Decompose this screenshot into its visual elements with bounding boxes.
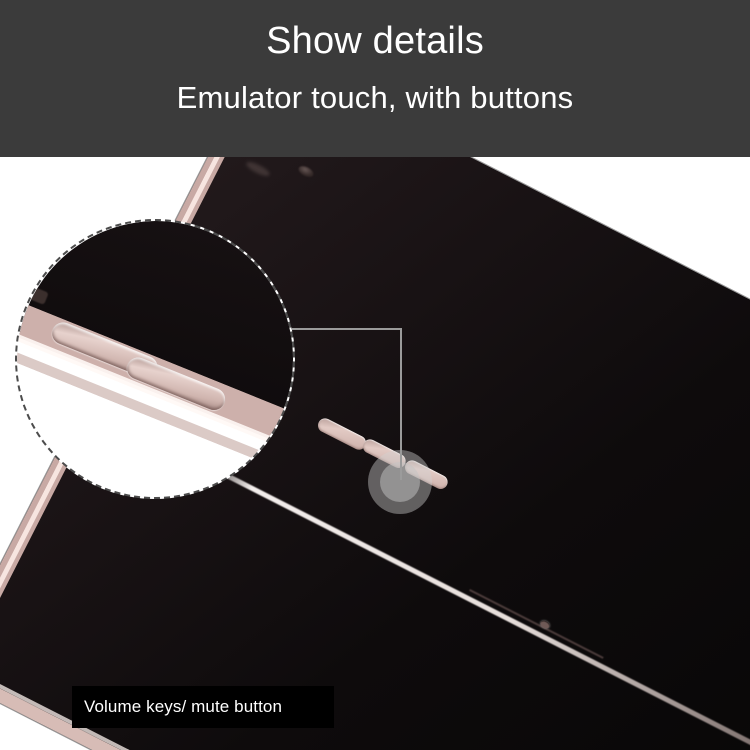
leader-line-vertical <box>400 328 402 480</box>
magnifier-content <box>17 221 295 499</box>
banner-subtitle: Emulator touch, with buttons <box>0 78 750 118</box>
leader-line-horizontal <box>292 328 402 330</box>
caption-text: Volume keys/ mute button <box>72 697 282 717</box>
header-banner: Show details Emulator touch, with button… <box>0 0 750 157</box>
magnifier-callout <box>15 219 295 499</box>
product-photo: Volume keys/ mute button <box>0 157 750 750</box>
caption-badge: Volume keys/ mute button <box>72 686 334 728</box>
banner-title: Show details <box>0 18 750 64</box>
screenshot-root: Volume keys/ mute button Show details Em… <box>0 0 750 750</box>
